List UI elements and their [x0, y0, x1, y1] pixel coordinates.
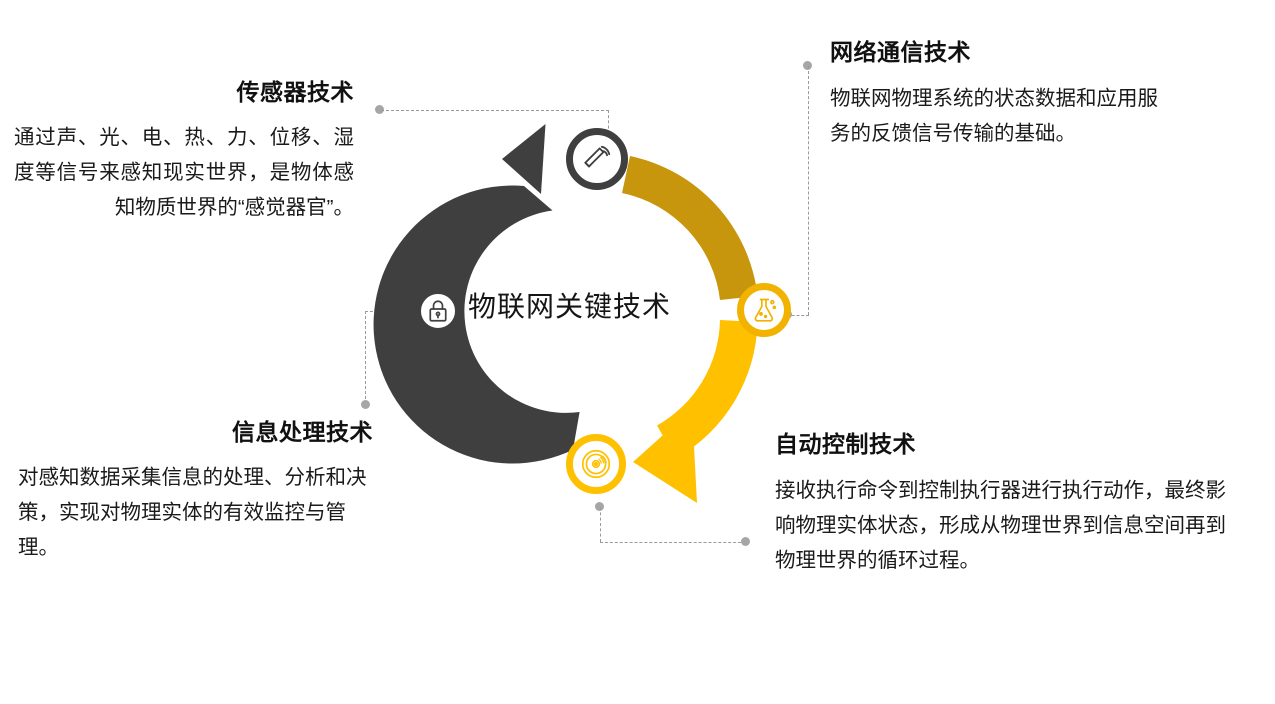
connector-segment: [600, 542, 746, 543]
disc-radar-icon[interactable]: [566, 434, 626, 494]
connector-endpoint-dot: [361, 400, 370, 409]
connector-segment: [600, 507, 601, 542]
node-heading-control: 自动控制技术: [775, 430, 1245, 459]
arrow-gold-group: [622, 156, 758, 300]
arrow-yellow-head: [633, 409, 697, 503]
arrow-yellow-body: [657, 320, 758, 459]
connector-segment: [365, 311, 407, 312]
node-text-network: 网络通信技术 物联网物理系统的状态数据和应用服务的反馈信号传输的基础。: [830, 38, 1170, 151]
node-body-info: 对感知数据采集信息的处理、分析和决策，实现对物理实体的有效监控与管理。: [18, 460, 373, 566]
node-heading-info: 信息处理技术: [18, 418, 373, 447]
arrow-dark-body: [374, 186, 580, 464]
connector-endpoint-dot: [741, 537, 750, 546]
connector-segment: [381, 110, 609, 111]
arrow-gold-body: [622, 156, 758, 300]
node-body-sensor: 通过声、光、电、热、力、位移、湿度等信号来感知现实世界，是物体感知物质世界的“感…: [14, 120, 354, 226]
node-text-control: 自动控制技术 接收执行命令到控制执行器进行执行动作，最终影响物理实体状态，形成从…: [775, 430, 1245, 579]
lock-icon[interactable]: [414, 287, 462, 335]
arrow-dark-head: [502, 124, 546, 194]
node-text-info: 信息处理技术 对感知数据采集信息的处理、分析和决策，实现对物理实体的有效监控与管…: [18, 418, 373, 566]
sensor-signal-icon[interactable]: [566, 128, 628, 190]
node-body-network: 物联网物理系统的状态数据和应用服务的反馈信号传输的基础。: [830, 81, 1170, 152]
node-body-control: 接收执行命令到控制执行器进行执行动作，最终影响物理实体状态，形成从物理世界到信息…: [775, 473, 1245, 579]
flask-icon[interactable]: [737, 283, 791, 337]
node-heading-sensor: 传感器技术: [14, 78, 354, 107]
connector-segment: [365, 311, 366, 404]
node-heading-network: 网络通信技术: [830, 38, 1170, 67]
arrow-yellow-group: [633, 320, 758, 503]
center-title: 物联网关键技术: [468, 293, 671, 321]
connector-segment: [808, 66, 809, 315]
diagram-canvas: 物联网关键技术 传感器技术 通过声、光、电、热、力、位移、湿度等信号来感知现实世…: [0, 0, 1275, 704]
node-text-sensor: 传感器技术 通过声、光、电、热、力、位移、湿度等信号来感知现实世界，是物体感知物…: [14, 78, 354, 226]
